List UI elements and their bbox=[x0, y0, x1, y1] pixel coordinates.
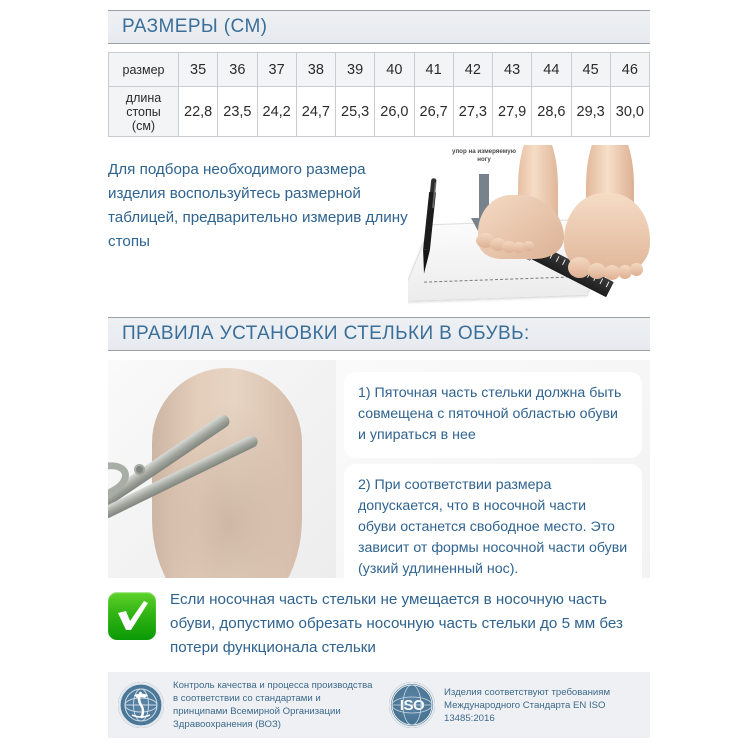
size-cell: 40 bbox=[375, 53, 414, 87]
length-cell: 27,9 bbox=[493, 87, 532, 137]
sizes-section-heading: РАЗМЕРЫ (СМ) bbox=[108, 10, 650, 44]
green-check-icon bbox=[108, 592, 156, 640]
sizes-heading-label: РАЗМЕРЫ (СМ) bbox=[108, 16, 267, 38]
table-row-foot-length: длина стопы (см) 22,8 23,5 24,2 24,7 25,… bbox=[109, 87, 650, 137]
iso-emblem-icon: ISO bbox=[389, 682, 435, 728]
rules-bubbles-area: 1) Пяточная часть стельки должна быть со… bbox=[336, 360, 650, 578]
notice-text: Если носочная часть стельки не умещается… bbox=[170, 586, 650, 660]
length-cell: 30,0 bbox=[610, 87, 649, 137]
size-cell: 37 bbox=[257, 53, 296, 87]
rules-heading-label: ПРАВИЛА УСТАНОВКИ СТЕЛЬКИ В ОБУВЬ: bbox=[108, 323, 530, 345]
length-cell: 27,3 bbox=[453, 87, 492, 137]
length-cell: 23,5 bbox=[218, 87, 257, 137]
who-emblem-icon bbox=[118, 682, 164, 728]
iso-cert-text: Изделия соответствуют требованиям Междун… bbox=[444, 686, 644, 725]
intro-paragraph: Для подбора необходимого размера изделия… bbox=[108, 158, 408, 254]
scissor-pivot-icon bbox=[136, 466, 143, 473]
certifications-footer: Контроль качества и процесса производств… bbox=[108, 672, 650, 738]
length-cell: 26,0 bbox=[375, 87, 414, 137]
size-cell: 36 bbox=[218, 53, 257, 87]
checkmark-glyph bbox=[115, 601, 149, 631]
size-cell: 46 bbox=[610, 53, 649, 87]
length-cell: 28,6 bbox=[532, 87, 571, 137]
certification-iso: ISO Изделия соответствуют требованиям Ме… bbox=[379, 682, 650, 728]
row-label-size: размер bbox=[109, 53, 179, 87]
foot-measurement-illustration: длина стопы упор на измеряемую ногу bbox=[408, 145, 653, 305]
table-row-sizes: размер 35 36 37 38 39 40 41 42 43 44 45 … bbox=[109, 53, 650, 87]
size-cell: 39 bbox=[336, 53, 375, 87]
row-label-foot-length: длина стопы (см) bbox=[109, 87, 179, 137]
size-chart-table: размер 35 36 37 38 39 40 41 42 43 44 45 … bbox=[108, 52, 650, 137]
insole-trimming-illustration bbox=[108, 360, 336, 578]
size-cell: 45 bbox=[571, 53, 610, 87]
trim-allowed-notice: Если носочная часть стельки не умещается… bbox=[108, 586, 650, 662]
who-cert-text: Контроль качества и процесса производств… bbox=[173, 679, 373, 731]
length-cell: 24,2 bbox=[257, 87, 296, 137]
size-cell: 42 bbox=[453, 53, 492, 87]
size-cell: 38 bbox=[296, 53, 335, 87]
size-cell: 35 bbox=[179, 53, 218, 87]
length-cell: 22,8 bbox=[179, 87, 218, 137]
length-cell: 25,3 bbox=[336, 87, 375, 137]
length-cell: 29,3 bbox=[571, 87, 610, 137]
rule-bubble-2: 2) При соответствии размера допускается,… bbox=[344, 464, 642, 592]
length-cell: 24,7 bbox=[296, 87, 335, 137]
size-cell: 41 bbox=[414, 53, 453, 87]
infographic-page: РАЗМЕРЫ (СМ) размер 35 36 37 38 39 40 41… bbox=[0, 0, 750, 750]
size-cell: 44 bbox=[532, 53, 571, 87]
certification-who: Контроль качества и процесса производств… bbox=[108, 679, 379, 731]
size-cell: 43 bbox=[493, 53, 532, 87]
right-foot-illustration bbox=[560, 145, 653, 301]
rule-bubble-1: 1) Пяточная часть стельки должна быть со… bbox=[344, 372, 642, 458]
who-emblem-glyph bbox=[118, 682, 164, 728]
length-cell: 26,7 bbox=[414, 87, 453, 137]
rules-section-heading: ПРАВИЛА УСТАНОВКИ СТЕЛЬКИ В ОБУВЬ: bbox=[108, 317, 650, 351]
iso-emblem-glyph bbox=[389, 682, 435, 728]
